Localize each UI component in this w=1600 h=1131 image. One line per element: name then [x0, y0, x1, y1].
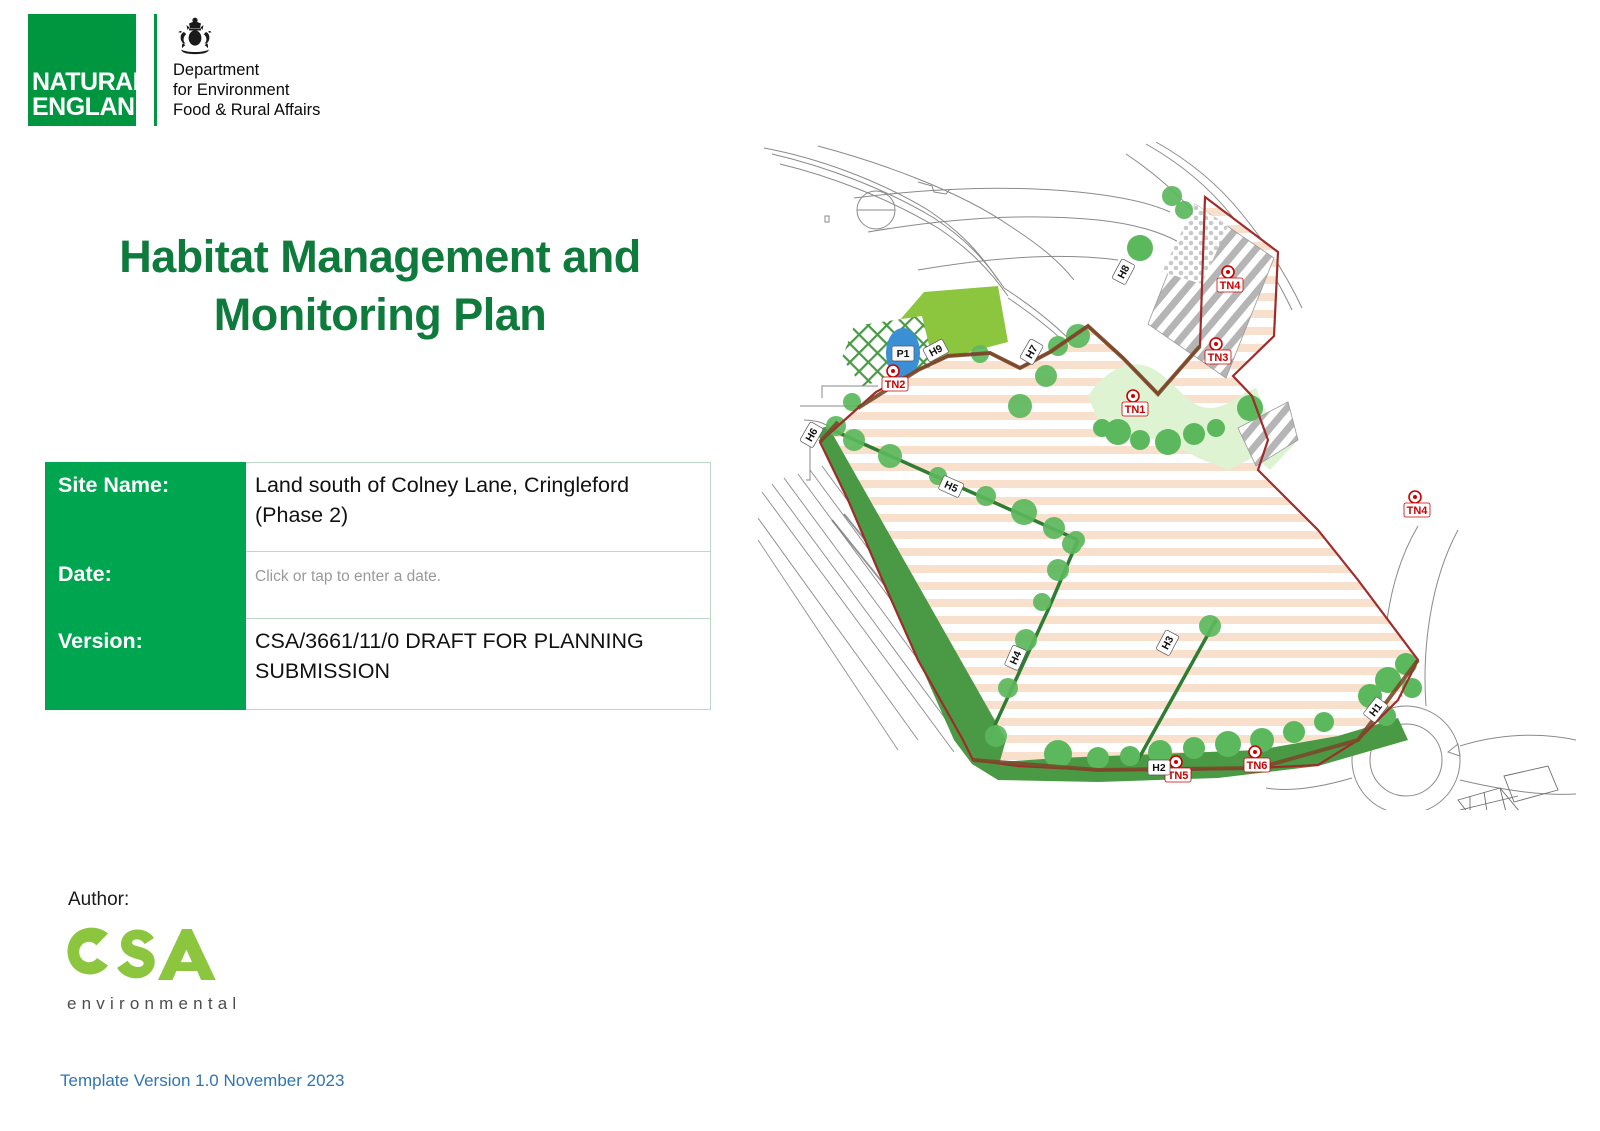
date-label: Date: [46, 552, 246, 619]
royal-crest-icon [173, 16, 217, 56]
defra-logo: Department for Environment Food & Rural … [173, 14, 320, 126]
version-label: Version: [46, 619, 246, 710]
document-info-table: Site Name: Land south of Colney Lane, Cr… [45, 462, 711, 710]
buildings-se [1458, 766, 1558, 810]
page-title: Habitat Management and Monitoring Plan [60, 228, 700, 344]
target-note-tn4-east[interactable]: TN4 [1404, 491, 1430, 517]
site-plan-svg[interactable]: TN1 TN2 TN3 TN4 [758, 140, 1576, 810]
svg-text:H2: H2 [1152, 762, 1166, 774]
date-value[interactable]: Click or tap to enter a date. [246, 552, 711, 619]
csa-logo: environmental [62, 918, 292, 1014]
csa-subtext: environmental [62, 994, 292, 1014]
svg-text:P1: P1 [897, 348, 910, 360]
table-row: Date: Click or tap to enter a date. [46, 552, 711, 619]
document-page: NATURAL ENGLAND [0, 0, 1600, 1131]
svg-text:TN1: TN1 [1125, 404, 1146, 416]
page-title-line2: Monitoring Plan [60, 286, 700, 344]
natural-england-line1: NATURAL [28, 70, 136, 95]
page-title-line1: Habitat Management and [60, 228, 700, 286]
svg-text:TN5: TN5 [1168, 770, 1189, 782]
natural-england-logo: NATURAL ENGLAND [28, 14, 136, 126]
branding-header: NATURAL ENGLAND [28, 14, 320, 126]
version-value[interactable]: CSA/3661/11/0 DRAFT FOR PLANNING SUBMISS… [246, 619, 711, 710]
defra-line2: for Environment [173, 80, 320, 100]
date-placeholder: Click or tap to enter a date. [255, 568, 441, 585]
svg-text:TN3: TN3 [1208, 352, 1229, 364]
table-row: Version: CSA/3661/11/0 DRAFT FOR PLANNIN… [46, 619, 711, 710]
author-label: Author: [68, 889, 129, 911]
svg-text:TN6: TN6 [1247, 760, 1268, 772]
svg-text:TN2: TN2 [885, 379, 906, 391]
template-version-footer: Template Version 1.0 November 2023 [60, 1071, 344, 1091]
hedge-label-h8: H8 [1112, 259, 1136, 285]
site-name-label: Site Name: [46, 463, 246, 552]
svg-text:TN4: TN4 [1220, 280, 1242, 292]
site-plan-map[interactable]: TN1 TN2 TN3 TN4 [758, 140, 1576, 810]
pond-label-p1: P1 [892, 346, 914, 361]
defra-line1: Department [173, 60, 320, 80]
table-row: Site Name: Land south of Colney Lane, Cr… [46, 463, 711, 552]
brand-divider [154, 14, 157, 126]
svg-text:TN4: TN4 [1407, 505, 1429, 517]
natural-england-line2: ENGLAND [28, 95, 136, 120]
defra-line3: Food & Rural Affairs [173, 100, 320, 120]
site-name-value[interactable]: Land south of Colney Lane, Cringleford (… [246, 463, 711, 552]
csa-wordmark-icon [62, 918, 292, 992]
hedge-label-h2: H2 [1148, 760, 1170, 775]
